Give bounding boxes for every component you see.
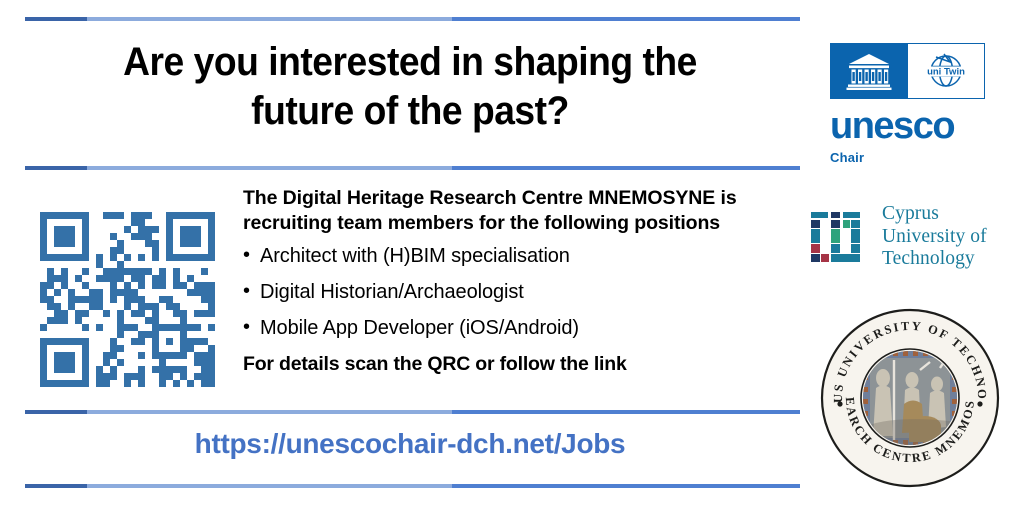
list-item: Architect with (H)BIM specialisation — [243, 245, 773, 267]
divider-top — [25, 17, 800, 21]
divider-segment-mid — [452, 410, 800, 414]
unitwin-icon: uni Twin — [908, 44, 985, 98]
divider-segment-light — [87, 17, 452, 21]
divider-segment-light — [87, 410, 452, 414]
divider-segment-dark — [25, 17, 87, 21]
recruiting-lead: The Digital Heritage Research Centre MNE… — [243, 186, 773, 235]
divider-under-headline — [25, 166, 800, 170]
headline-line-2: future of the past? — [66, 87, 754, 136]
body-copy: The Digital Heritage Research Centre MNE… — [243, 186, 773, 376]
divider-segment-mid — [452, 17, 800, 21]
cut-line-3: Technology — [882, 248, 987, 271]
divider-under-body — [25, 410, 800, 414]
positions-list: Architect with (H)BIM specialisation Dig… — [243, 245, 773, 339]
divider-segment-light — [87, 484, 452, 488]
poster-root: Are you interested in shaping the future… — [0, 0, 1024, 512]
divider-segment-dark — [25, 410, 87, 414]
page-title: Are you interested in shaping the future… — [66, 38, 754, 136]
divider-segment-dark — [25, 484, 87, 488]
divider-segment-light — [87, 166, 452, 170]
list-item: Mobile App Developer (iOS/Android) — [243, 317, 773, 339]
divider-segment-dark — [25, 166, 87, 170]
svg-text:uni Twin: uni Twin — [927, 67, 965, 78]
headline-line-1: Are you interested in shaping the — [66, 38, 754, 87]
qr-code-canvas[interactable] — [40, 212, 215, 387]
cut-logo: Cyprus University of Technology — [808, 203, 987, 271]
unesco-chair-logo: uni Twin unesco Chair — [830, 43, 990, 165]
mnemosyne-seal: CYPRUS UNIVERSITY OF TECHNOLOGY RESEARCH… — [820, 308, 1000, 488]
cut-wordmark: Cyprus University of Technology — [882, 203, 987, 271]
divider-segment-mid — [452, 166, 800, 170]
jobs-link[interactable]: https://unescochair-dch.net/Jobs — [40, 428, 780, 460]
unesco-badge: uni Twin — [830, 43, 985, 99]
divider-segment-mid — [452, 484, 800, 488]
details-instruction: For details scan the QRC or follow the l… — [243, 353, 773, 376]
list-item: Digital Historian/Archaeologist — [243, 281, 773, 303]
unesco-temple-icon — [831, 44, 908, 98]
unesco-chair-label: Chair — [830, 150, 990, 165]
cut-line-1: Cyprus — [882, 203, 987, 226]
divider-bottom — [25, 484, 800, 488]
unesco-wordmark: unesco — [830, 107, 990, 145]
cut-mark-icon — [808, 206, 870, 268]
qr-code[interactable] — [40, 212, 215, 387]
cut-line-2: University of — [882, 226, 987, 249]
